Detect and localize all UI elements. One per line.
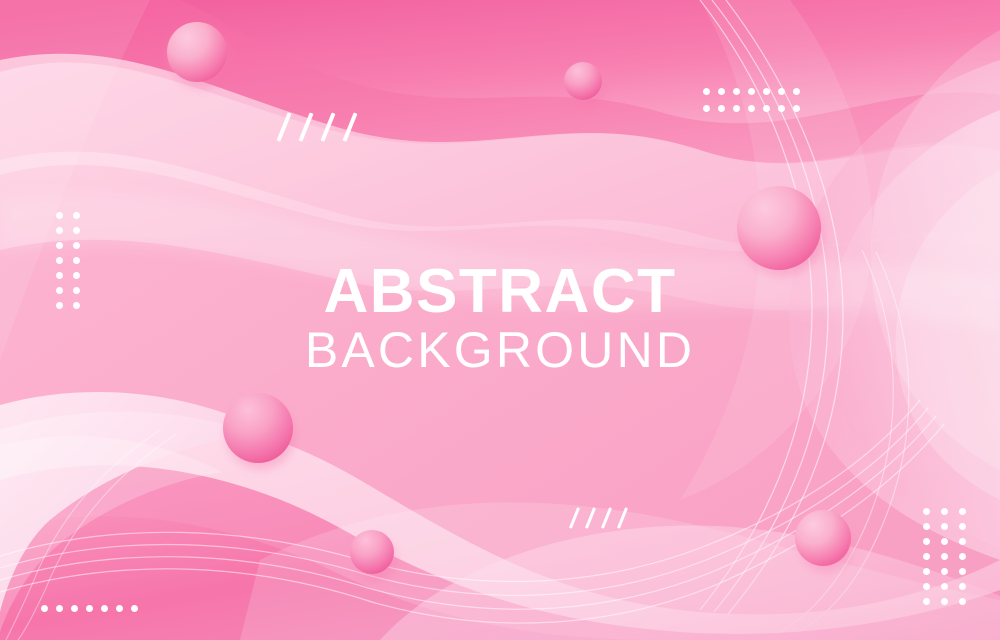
decor-dot: [959, 538, 966, 545]
decor-dot: [923, 508, 930, 515]
decor-dot: [763, 105, 770, 112]
decor-dot: [101, 605, 108, 612]
decor-dot: [56, 272, 63, 279]
decor-dot: [703, 105, 710, 112]
slash-group-top: [278, 110, 368, 146]
sphere-top-left: [167, 22, 227, 82]
dot-grid-bottom-right: [923, 508, 977, 613]
decor-dot: [923, 553, 930, 560]
decor-dot: [131, 605, 138, 612]
decor-dot: [941, 523, 948, 530]
decor-dot: [703, 88, 710, 95]
decor-dot: [941, 598, 948, 605]
decor-dot: [116, 605, 123, 612]
decor-slash: [585, 507, 596, 529]
decor-dot: [941, 568, 948, 575]
decor-dot: [959, 583, 966, 590]
decor-dot: [56, 257, 63, 264]
decor-dot: [941, 583, 948, 590]
decor-dot: [923, 568, 930, 575]
decor-dot: [923, 598, 930, 605]
decor-slash: [601, 507, 612, 529]
decor-dot: [959, 568, 966, 575]
abstract-background-banner: ABSTRACT BACKGROUND: [0, 0, 1000, 640]
decor-slash: [299, 112, 313, 141]
background-artwork: [0, 0, 1000, 640]
decor-slash: [343, 112, 357, 141]
decor-dot: [733, 88, 740, 95]
decor-dot: [73, 302, 80, 309]
decor-dot: [56, 287, 63, 294]
dot-grid-bottom-left: [41, 605, 146, 615]
decor-dot: [56, 605, 63, 612]
decor-dot: [778, 105, 785, 112]
sphere-bottom-center: [350, 530, 394, 574]
decor-dot: [718, 105, 725, 112]
decor-dot: [56, 212, 63, 219]
decor-dot: [959, 598, 966, 605]
decor-slash: [569, 507, 580, 529]
decor-dot: [56, 242, 63, 249]
decor-slash: [321, 112, 335, 141]
decor-dot: [86, 605, 93, 612]
dot-grid-left: [56, 212, 90, 317]
decor-dot: [793, 88, 800, 95]
decor-dot: [763, 88, 770, 95]
decor-dot: [73, 257, 80, 264]
decor-dot: [923, 523, 930, 530]
decor-dot: [923, 583, 930, 590]
decor-dot: [733, 105, 740, 112]
decor-dot: [959, 523, 966, 530]
decor-dot: [941, 508, 948, 515]
decor-slash: [277, 112, 291, 141]
decor-dot: [73, 242, 80, 249]
sphere-bottom-right: [795, 510, 851, 566]
decor-dot: [959, 553, 966, 560]
decor-dot: [793, 105, 800, 112]
sphere-mid-left: [223, 393, 293, 463]
decor-dot: [959, 508, 966, 515]
dot-grid-top-right: [703, 88, 808, 122]
decor-slash: [617, 507, 628, 529]
decor-dot: [941, 553, 948, 560]
slash-group-bottom: [570, 505, 632, 533]
decor-dot: [748, 105, 755, 112]
decor-dot: [923, 538, 930, 545]
decor-dot: [73, 272, 80, 279]
sphere-right-large: [737, 186, 821, 270]
decor-dot: [56, 302, 63, 309]
decor-dot: [41, 605, 48, 612]
sphere-top-center: [564, 62, 602, 100]
decor-dot: [56, 227, 63, 234]
decor-dot: [748, 88, 755, 95]
decor-dot: [73, 212, 80, 219]
decor-dot: [941, 538, 948, 545]
decor-dot: [73, 227, 80, 234]
decor-dot: [778, 88, 785, 95]
decor-dot: [718, 88, 725, 95]
decor-dot: [71, 605, 78, 612]
decor-dot: [73, 287, 80, 294]
